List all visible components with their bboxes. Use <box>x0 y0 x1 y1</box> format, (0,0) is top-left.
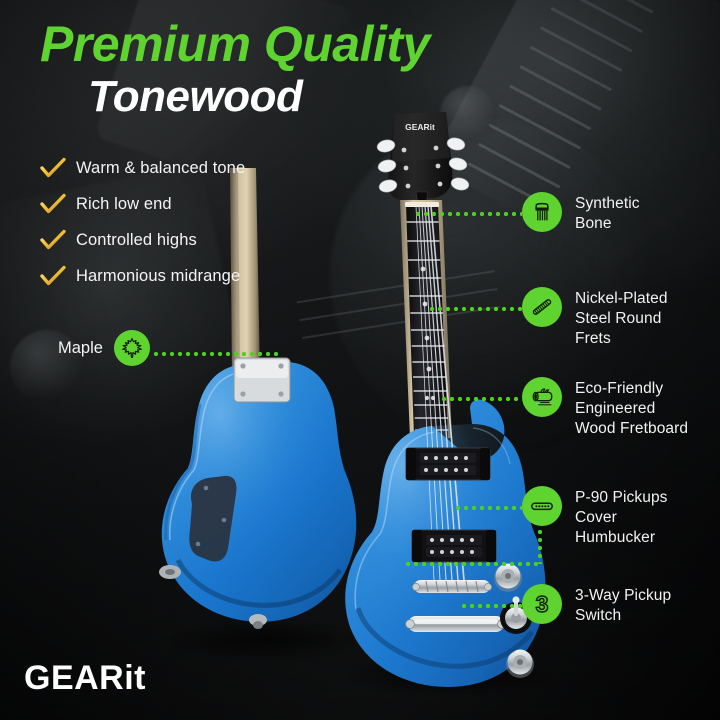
leader-line-pickups-lower <box>404 562 542 566</box>
list-item: Rich low end <box>40 186 245 222</box>
feature-bullet-list: Warm & balanced tone Rich low end Contro… <box>40 150 245 294</box>
wood-log-icon <box>522 377 562 417</box>
callout-p90-pickups: P-90 Pickups Cover Humbucker <box>522 486 668 547</box>
list-item: Warm & balanced tone <box>40 150 245 186</box>
number-three-icon: 3 <box>522 584 562 624</box>
callout-wood-fretboard: Eco-Friendly Engineered Wood Fretboard <box>522 377 688 438</box>
callout-label: Nickel-Plated Steel Round Frets <box>575 287 668 348</box>
callout-label: P-90 Pickups Cover Humbucker <box>575 486 668 547</box>
check-icon <box>40 265 66 287</box>
callout-label: Synthetic Bone <box>575 192 640 234</box>
page-subtitle: Tonewood <box>88 73 430 121</box>
callout-maple: Maple <box>58 330 150 366</box>
pickup-cover-icon <box>522 486 562 526</box>
callout-label: 3-Way Pickup Switch <box>575 584 671 626</box>
callout-synthetic-bone: Synthetic Bone <box>522 192 640 234</box>
list-item-label: Controlled highs <box>76 231 197 250</box>
list-item-label: Harmonious midrange <box>76 267 240 286</box>
svg-text:3: 3 <box>536 591 549 617</box>
bridge-pickup <box>412 530 496 562</box>
page-title: Premium Quality <box>40 18 430 71</box>
callout-maple-label: Maple <box>58 339 103 358</box>
leader-line-synthetic-bone <box>414 212 522 216</box>
headstock: GEARit <box>376 112 470 204</box>
bridge <box>412 580 491 593</box>
list-item-label: Warm & balanced tone <box>76 159 245 178</box>
tailpiece <box>406 616 507 632</box>
callout-label: Eco-Friendly Engineered Wood Fretboard <box>575 377 688 438</box>
check-icon <box>40 157 66 179</box>
neck-pickup <box>406 448 490 480</box>
list-item-label: Rich low end <box>76 195 172 214</box>
neck-plate <box>234 358 290 402</box>
callout-3way-switch: 3 3-Way Pickup Switch <box>522 584 671 626</box>
leader-line-switch <box>460 604 522 608</box>
headstock-logo: GEARit <box>405 122 435 132</box>
check-icon <box>40 193 66 215</box>
maple-leaf-icon <box>114 330 150 366</box>
fret-wire-icon <box>522 287 562 327</box>
brand-logo: GEARit <box>24 659 146 698</box>
leader-line-frets <box>428 307 522 311</box>
callout-frets: Nickel-Plated Steel Round Frets <box>522 287 668 348</box>
leader-line-pickups <box>454 506 522 510</box>
leader-line-fretboard <box>440 397 522 401</box>
infographic-canvas: GEARit <box>0 0 720 720</box>
leader-line-maple <box>152 352 282 356</box>
list-item: Harmonious midrange <box>40 258 245 294</box>
headline-block: Premium Quality Tonewood <box>40 18 430 121</box>
guitar-nut-icon <box>522 192 562 232</box>
list-item: Controlled highs <box>40 222 245 258</box>
check-icon <box>40 229 66 251</box>
